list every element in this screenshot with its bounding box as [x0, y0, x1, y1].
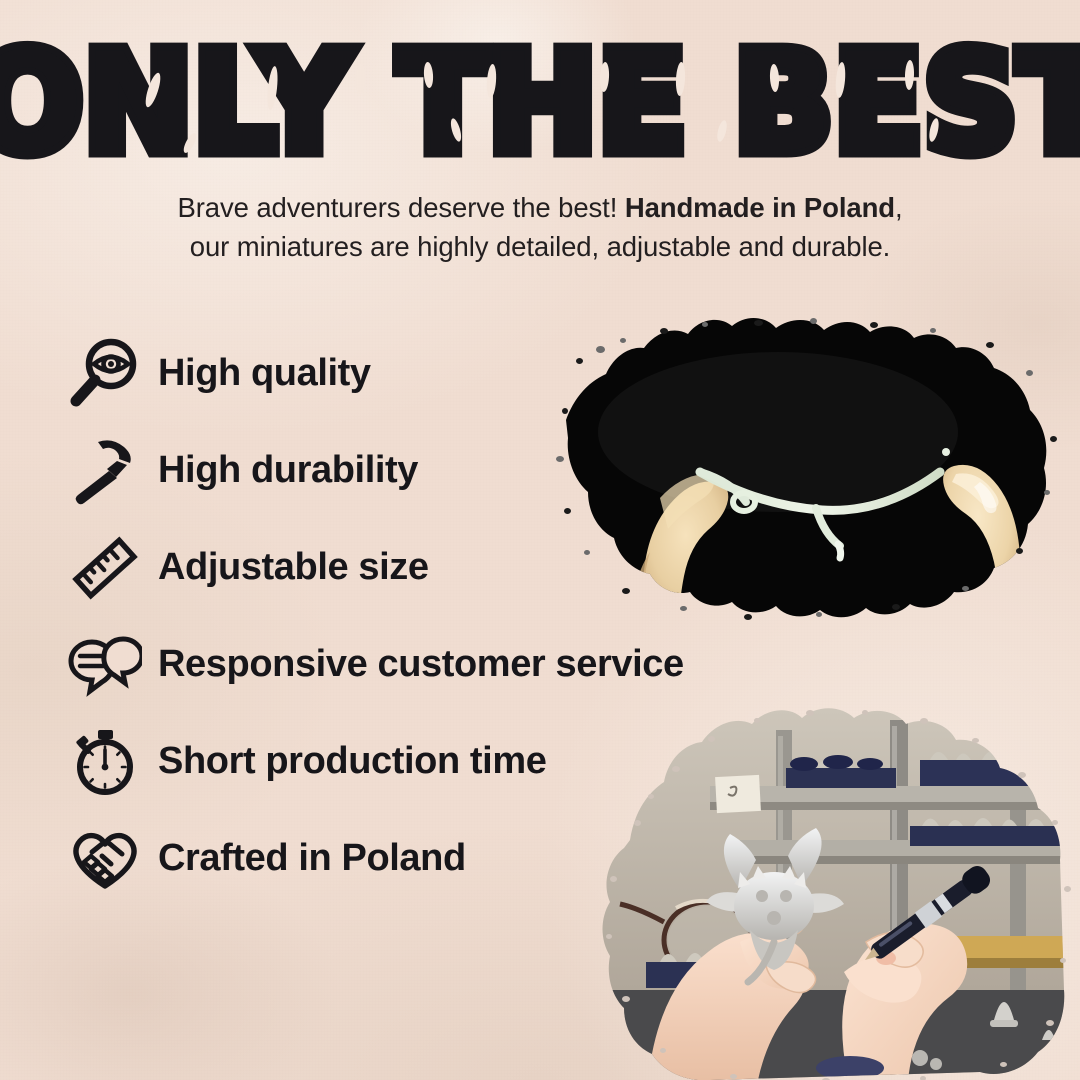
feature-label: Responsive customer service [158, 643, 684, 686]
ruler-icon [62, 525, 148, 611]
feature-label: Crafted in Poland [158, 837, 466, 880]
feature-label: Adjustable size [158, 546, 429, 589]
stopwatch-icon [62, 719, 148, 805]
workshop-painting-photo [590, 690, 1080, 1080]
feature-label: High durability [158, 449, 418, 492]
subtitle: Brave adventurers deserve the best! Hand… [0, 188, 1080, 266]
workshop-painting-photo-art [590, 690, 1080, 1080]
feature-label: Short production time [158, 740, 546, 783]
subtitle-lead: Brave adventurers deserve the best! [177, 192, 624, 223]
page-title: ONLY THE BEST [0, 34, 1080, 171]
flexible-miniature-photo [548, 312, 1064, 624]
speech-bubbles-icon [62, 622, 148, 708]
subtitle-line-2: our miniatures are highly detailed, adju… [0, 227, 1080, 266]
poster: ONLY THE BEST Brave adventurers deserve … [0, 0, 1080, 1080]
flexible-miniature-photo-art [548, 312, 1064, 624]
hammer-icon [62, 428, 148, 514]
handshake-heart-icon [62, 816, 148, 902]
subtitle-tail: , [895, 192, 903, 223]
feature-label: High quality [158, 352, 371, 395]
magnifier-eye-icon [62, 331, 148, 417]
subtitle-emphasis: Handmade in Poland [625, 192, 895, 223]
headline-container: ONLY THE BEST [0, 34, 1080, 152]
subtitle-line-1: Brave adventurers deserve the best! Hand… [0, 188, 1080, 227]
